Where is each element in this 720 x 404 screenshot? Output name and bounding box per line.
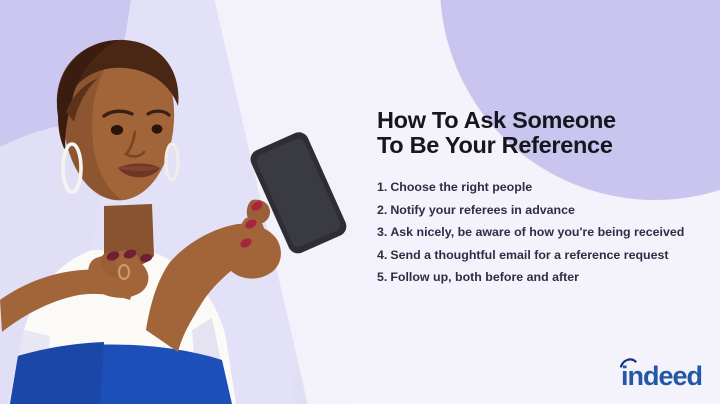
- slide-canvas: How To Ask Someone To Be Your Reference …: [0, 0, 720, 404]
- list-item-text: Notify your referees in advance: [390, 203, 575, 217]
- page-title: How To Ask Someone To Be Your Reference: [377, 108, 707, 158]
- headline-line-1: How To Ask Someone: [377, 108, 707, 133]
- list-item-text: Follow up, both before and after: [390, 270, 579, 284]
- indeed-wordmark: indeed: [621, 361, 702, 389]
- list-item-text: Send a thoughtful email for a reference …: [390, 248, 668, 262]
- eye-right: [152, 124, 163, 133]
- list-item-number: 3.: [377, 225, 387, 239]
- list-item-number: 4.: [377, 248, 387, 262]
- hoop-earring-right: [166, 144, 178, 180]
- indeed-logo: indeed: [619, 355, 703, 389]
- list-item-text: Choose the right people: [390, 180, 532, 194]
- list-item-number: 2.: [377, 203, 387, 217]
- steps-list: 1.Choose the right people 2.Notify your …: [377, 176, 707, 289]
- list-item: 4.Send a thoughtful email for a referenc…: [377, 244, 707, 267]
- list-item: 5.Follow up, both before and after: [377, 266, 707, 289]
- list-item-text: Ask nicely, be aware of how you're being…: [390, 225, 684, 239]
- copy-block: How To Ask Someone To Be Your Reference …: [377, 108, 707, 289]
- list-item: 1.Choose the right people: [377, 176, 707, 199]
- list-item-number: 1.: [377, 180, 387, 194]
- list-item: 3.Ask nicely, be aware of how you're bei…: [377, 221, 707, 244]
- list-item-number: 5.: [377, 270, 387, 284]
- list-item: 2.Notify your referees in advance: [377, 199, 707, 222]
- headline-line-2: To Be Your Reference: [377, 133, 707, 158]
- eye-left: [111, 125, 123, 135]
- woman-with-phone-illustration: [0, 0, 360, 404]
